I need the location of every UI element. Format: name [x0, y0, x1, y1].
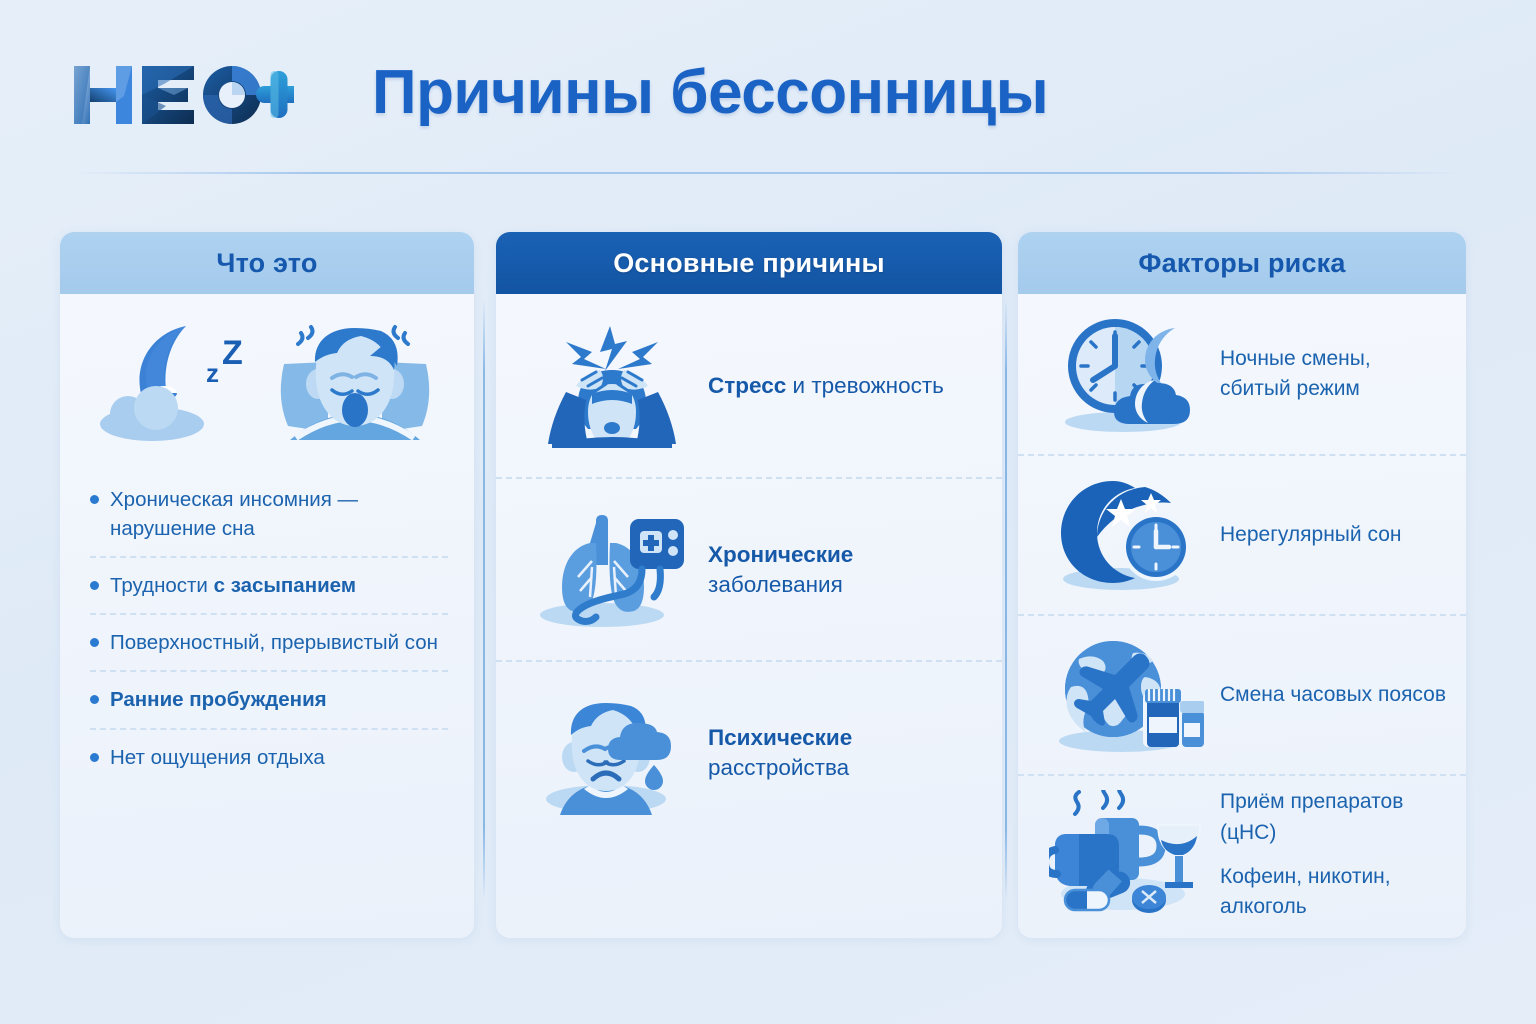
- cause-label-bold: Стресс: [708, 373, 786, 398]
- logo-icon: [72, 62, 294, 128]
- card-risks-header: Факторы риска: [1018, 232, 1466, 294]
- card-what-body: z Z: [60, 294, 474, 785]
- risk-label-line1: Нерегулярный сон: [1220, 523, 1401, 546]
- bullet-dot-icon: [90, 638, 99, 647]
- cause-label-bold: Психические: [708, 725, 852, 750]
- list-item: Психические расстройства: [496, 660, 1002, 843]
- clock-moon-icon: [1049, 312, 1204, 437]
- bullet-label-bold: с засыпанием: [214, 574, 356, 597]
- cause-icon-wrap: [522, 316, 702, 456]
- bullet-label: Хроническая инсомния — нарушение сна: [110, 488, 358, 540]
- card-causes-body: Стресс и тревожность: [496, 294, 1002, 843]
- bullet-dot-icon: [90, 695, 99, 704]
- moon-stars-clock-icon: [1049, 473, 1204, 598]
- risk-label-line1: Приём препаратов (цНС): [1220, 790, 1403, 843]
- cause-label: Хронические заболевания: [708, 540, 980, 599]
- cause-label-rest: заболевания: [708, 572, 843, 597]
- risk-label: Ночные смены, сбитый режим: [1220, 344, 1371, 405]
- bullet-label: Поверхностный, прерывистый сон: [110, 631, 438, 654]
- list-item: Хроническая инсомния — нарушение сна: [90, 472, 448, 556]
- cause-label: Стресс и тревожность: [708, 371, 944, 400]
- list-item: Поверхностный, прерывистый сон: [90, 613, 448, 670]
- header-divider: [72, 172, 1464, 174]
- list-item: Стресс и тревожность: [496, 294, 1002, 477]
- risk-icon-wrap: [1040, 473, 1212, 598]
- stress-head-icon: [532, 316, 692, 456]
- card-risks-body: Ночные смены, сбитый режим: [1018, 294, 1466, 934]
- risk-label: Смена часовых поясов: [1220, 680, 1446, 710]
- card-what-is-it: Что это z Z: [60, 232, 474, 938]
- page-title: Причины бессонницы: [372, 57, 1048, 128]
- bullet-dot-icon: [90, 581, 99, 590]
- bullet-dot-icon: [90, 495, 99, 504]
- svg-text:Z: Z: [222, 334, 243, 372]
- risk-icon-wrap: [1040, 790, 1212, 920]
- list-item: Хронические заболевания: [496, 477, 1002, 660]
- bullet-dot-icon: [90, 753, 99, 762]
- coffee-wine-pills-icon: [1049, 790, 1204, 920]
- risk-label-line2: Кофеин, никотин, алкоголь: [1220, 862, 1450, 923]
- page-header: Причины бессонницы: [0, 0, 1536, 180]
- risk-label-line1: Смена часовых поясов: [1220, 683, 1446, 706]
- list-item: Трудности с засыпанием: [90, 556, 448, 613]
- cause-label-rest: и тревожность: [786, 373, 944, 398]
- risk-label: Приём препаратов (цНС) Кофеин, никотин, …: [1220, 787, 1450, 923]
- list-item: Приём препаратов (цНС) Кофеин, никотин, …: [1018, 774, 1466, 934]
- list-item: Нерегулярный сон: [1018, 454, 1466, 614]
- cause-label: Психические расстройства: [708, 723, 980, 782]
- cards-container: Что это z Z: [0, 232, 1536, 938]
- card-what-header: Что это: [60, 232, 474, 294]
- list-item: Ранние пробуждения: [90, 670, 448, 727]
- card-risk-factors: Факторы риска: [1018, 232, 1466, 938]
- sad-cloud-icon: [530, 683, 695, 823]
- cause-icon-wrap: [522, 505, 702, 635]
- risk-label-line1: Ночные смены,: [1220, 347, 1371, 370]
- cause-label-bold: Хронические: [708, 542, 853, 567]
- moon-zzz-icon: z Z: [94, 310, 262, 450]
- cause-label-rest: расстройства: [708, 755, 849, 780]
- lungs-monitor-icon: [530, 505, 695, 635]
- cause-icon-wrap: [522, 683, 702, 823]
- card-causes-header: Основные причины: [496, 232, 1002, 294]
- bullet-label: Трудности: [110, 574, 214, 597]
- what-bullet-list: Хроническая инсомния — нарушение сна Тру…: [60, 454, 474, 785]
- what-hero-illustration: z Z: [60, 294, 474, 454]
- risk-icon-wrap: [1040, 312, 1212, 437]
- list-item: Ночные смены, сбитый режим: [1018, 294, 1466, 454]
- globe-plane-pills-icon: [1049, 633, 1204, 758]
- list-item: Нет ощущения отдыха: [90, 728, 448, 785]
- brand-logo: [72, 62, 294, 128]
- bullet-label: Нет ощущения отдыха: [110, 746, 325, 769]
- bullet-label-bold: Ранние пробуждения: [110, 688, 327, 711]
- list-item: Смена часовых поясов: [1018, 614, 1466, 774]
- card-main-causes: Основные причины: [496, 232, 1002, 938]
- risk-label-line2: сбитый режим: [1220, 377, 1360, 400]
- svg-text:z: z: [206, 358, 219, 388]
- sleeping-person-icon: [270, 308, 440, 453]
- risk-icon-wrap: [1040, 633, 1212, 758]
- risk-label: Нерегулярный сон: [1220, 520, 1401, 550]
